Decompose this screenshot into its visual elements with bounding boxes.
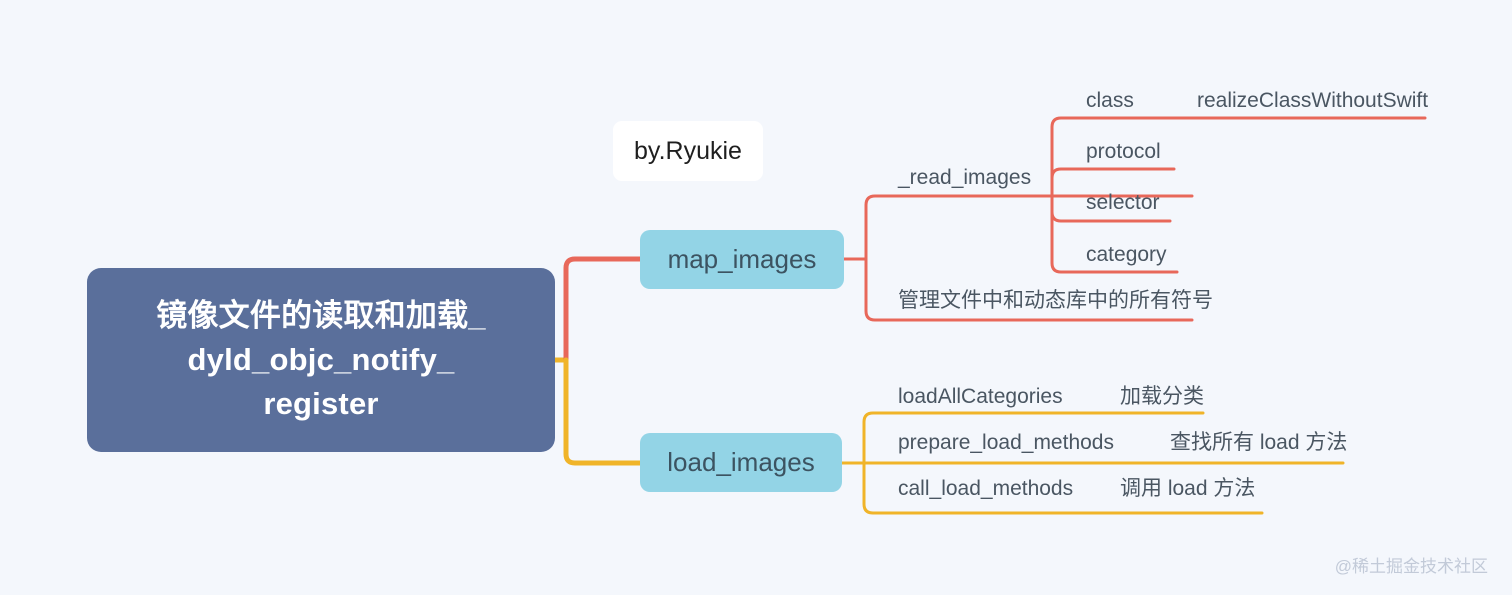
leaf-prepare-load-methods[interactable]: prepare_load_methods — [898, 432, 1114, 453]
leaf-load-all-categories[interactable]: loadAllCategories — [898, 386, 1063, 407]
leaf-call-load-methods[interactable]: call_load_methods — [898, 478, 1073, 499]
root-title-line-3: register — [156, 382, 485, 426]
root-node[interactable]: 镜像文件的读取和加载_ dyld_objc_notify_ register — [87, 268, 555, 452]
watermark: @稀土掘金技术社区 — [1335, 552, 1488, 577]
leaf-realize-class-without-swift[interactable]: realizeClassWithoutSwift — [1197, 90, 1428, 111]
root-title-line-2: dyld_objc_notify_ — [156, 338, 485, 382]
author-chip-label: by.Ryukie — [634, 137, 742, 166]
leaf-selector[interactable]: selector — [1086, 192, 1160, 213]
branch-node-map-images[interactable]: map_images — [640, 230, 844, 289]
mindmap-canvas: 镜像文件的读取和加载_ dyld_objc_notify_ register b… — [0, 0, 1512, 595]
leaf-class[interactable]: class — [1086, 90, 1134, 111]
branch-node-load-images-label: load_images — [667, 447, 814, 478]
branch-node-map-images-label: map_images — [668, 244, 817, 275]
leaf-note-call-load-methods[interactable]: 调用 load 方法 — [1120, 478, 1255, 499]
root-title-line-1: 镜像文件的读取和加载_ — [156, 294, 485, 338]
wire-root-to-load-images — [566, 360, 640, 463]
leaf-protocol[interactable]: protocol — [1086, 141, 1161, 162]
leaf-manage-symbols[interactable]: 管理文件中和动态库中的所有符号 — [898, 290, 1213, 311]
wire-root-to-map-images — [566, 259, 640, 360]
leaf-category[interactable]: category — [1086, 244, 1167, 265]
author-chip: by.Ryukie — [613, 121, 763, 181]
leaf-read-images[interactable]: _read_images — [898, 167, 1031, 188]
branch-node-load-images[interactable]: load_images — [640, 433, 842, 492]
leaf-note-load-categories[interactable]: 加载分类 — [1120, 386, 1204, 407]
leaf-note-find-load-methods[interactable]: 查找所有 load 方法 — [1170, 432, 1347, 453]
watermark-text: @稀土掘金技术社区 — [1335, 557, 1488, 576]
